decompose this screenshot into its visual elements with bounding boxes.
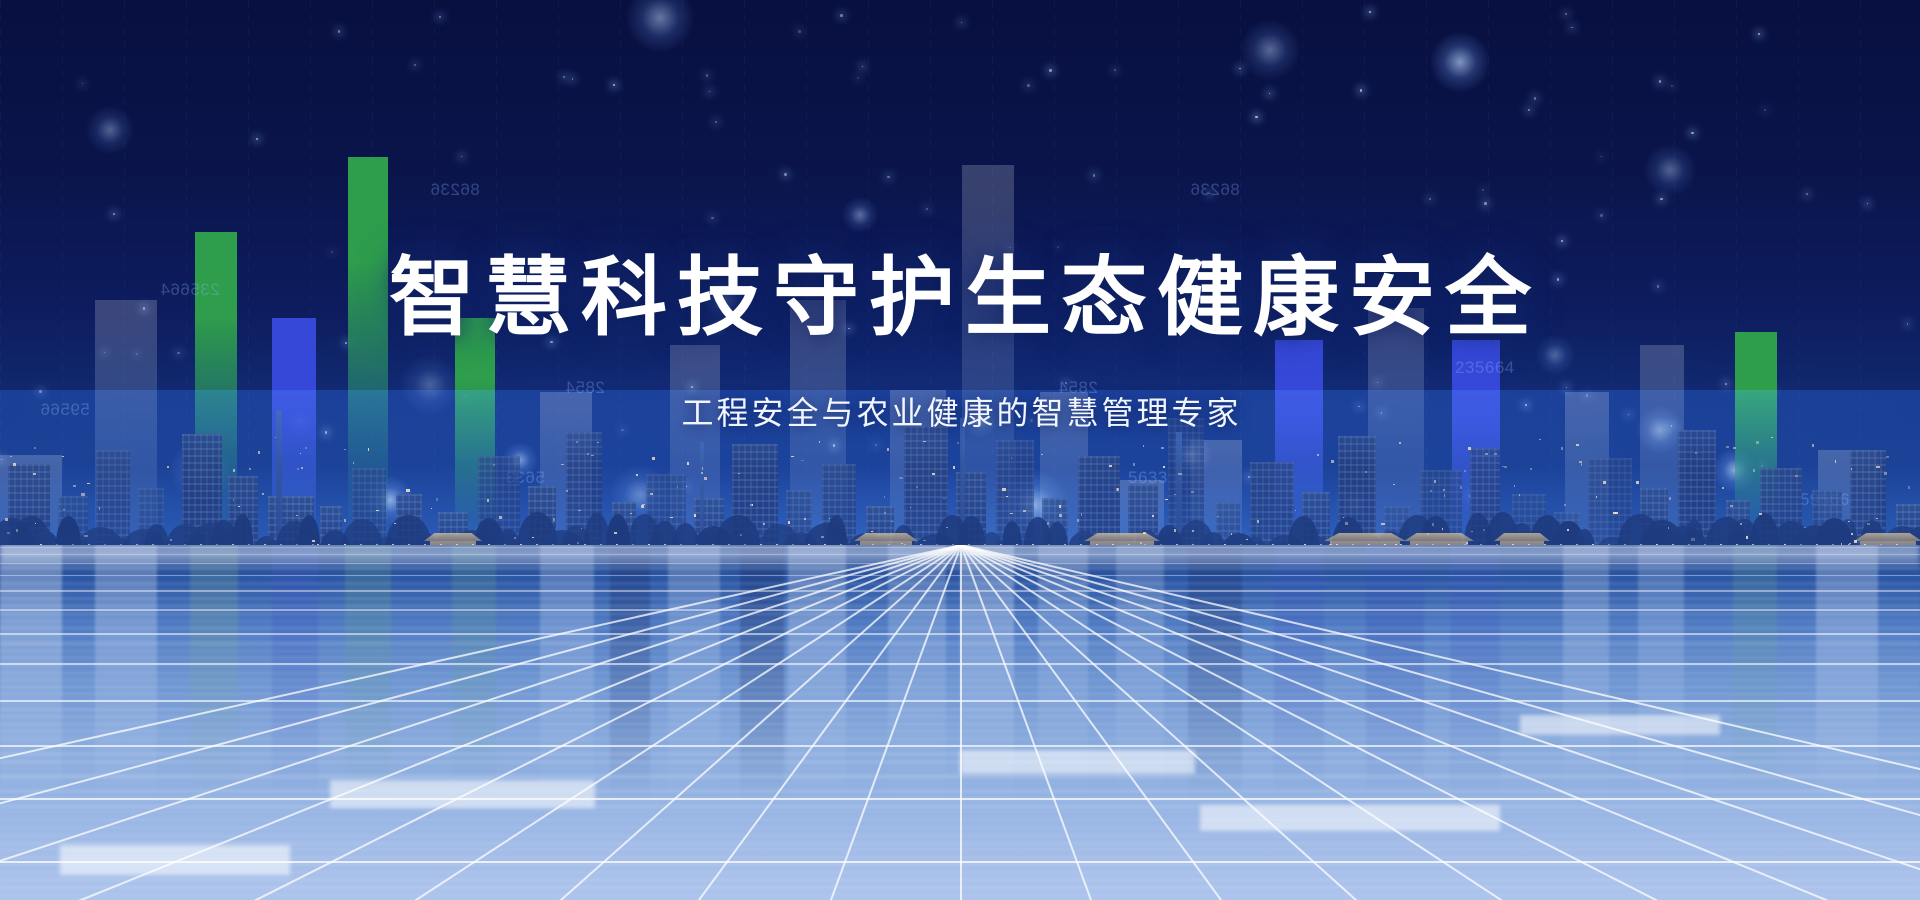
floor-grid-vertical bbox=[960, 545, 1518, 900]
page-subtitle: 工程安全与农业健康的智慧管理专家 bbox=[0, 397, 1920, 429]
floor-grid-vertical bbox=[399, 545, 961, 900]
floor-grid-vertical bbox=[960, 545, 962, 900]
floor-grid-vertical bbox=[961, 545, 1920, 900]
reflective-floor bbox=[0, 545, 1920, 900]
floor-grid-vertical bbox=[238, 545, 961, 900]
floor-grid-vertical bbox=[62, 545, 961, 900]
floor-grid-vertical bbox=[960, 545, 1099, 900]
floor-grid-vertical bbox=[0, 545, 961, 900]
floor-grid bbox=[0, 545, 1920, 900]
hero-banner: 5956623566486236285456338623628545633235… bbox=[0, 0, 1920, 900]
floor-grid-vertical bbox=[961, 545, 1920, 900]
floor-grid-vertical bbox=[0, 545, 961, 900]
floor-grid-vertical bbox=[961, 545, 1674, 900]
floor-grid-vertical bbox=[823, 545, 962, 900]
floor-grid-vertical bbox=[961, 545, 1920, 900]
hero-copy: 智慧科技守护生态健康安全 工程安全与农业健康的智慧管理专家 bbox=[0, 0, 1920, 560]
floor-grid-vertical bbox=[961, 545, 1845, 900]
page-title: 智慧科技守护生态健康安全 bbox=[0, 255, 1920, 341]
floor-grid-vertical bbox=[0, 545, 961, 900]
